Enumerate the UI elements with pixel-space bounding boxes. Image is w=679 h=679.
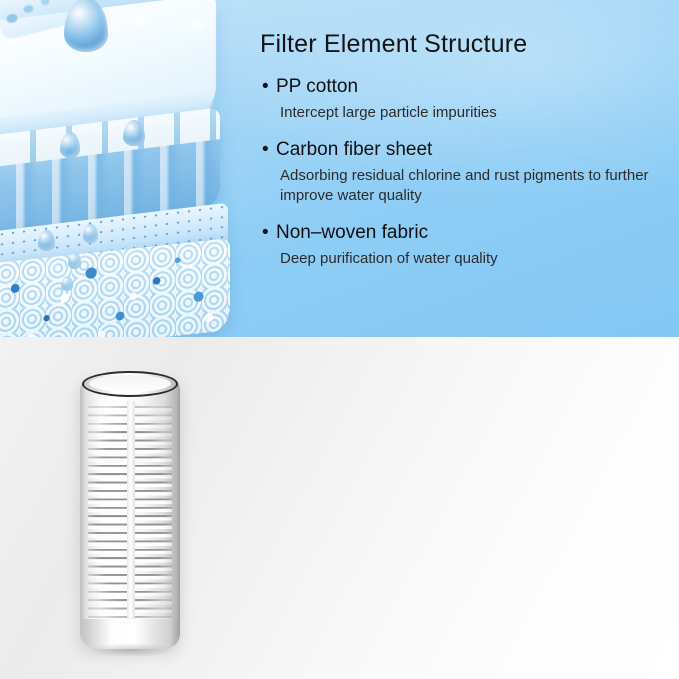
- bullet-description: Intercept large particle impurities: [260, 103, 670, 123]
- filter-structure-text: Filter Element Structure • PP cotton Int…: [260, 30, 670, 268]
- bullet-heading-label: PP cotton: [276, 76, 358, 97]
- bullet-heading: • PP cotton: [260, 76, 670, 99]
- water-droplet-icon: [83, 224, 98, 243]
- water-droplet-icon: [61, 276, 73, 291]
- cartridge-center-rib: [127, 401, 135, 629]
- bullet-heading-label: Carbon fiber sheet: [276, 139, 432, 160]
- infographic-page: Filter Element Structure • PP cotton Int…: [0, 0, 679, 679]
- bullet-dot-icon: •: [262, 139, 269, 162]
- water-droplet-icon: [38, 230, 55, 251]
- bullet-description: Deep purification of water quality: [260, 249, 670, 269]
- filter-structure-panel: Filter Element Structure • PP cotton Int…: [0, 0, 679, 337]
- bullet-item-non-woven-fabric: • Non–woven fabric Deep purification of …: [260, 222, 670, 268]
- filter-cartridge-image: [70, 367, 190, 657]
- filter-structure-title: Filter Element Structure: [260, 30, 670, 59]
- cartridge-rim-inner: [89, 375, 171, 392]
- bullet-heading: • Non–woven fabric: [260, 222, 670, 245]
- purification-amount-panel: ≈ Filter Element Purification Amount: [0, 337, 679, 679]
- water-droplet-icon: [123, 120, 145, 146]
- bullet-heading-label: Non–woven fabric: [276, 222, 428, 243]
- water-droplet-icon: [60, 132, 80, 158]
- water-droplet-icon: [68, 252, 81, 269]
- filter-layers-illustration: [0, 0, 252, 337]
- bullet-dot-icon: •: [262, 222, 269, 245]
- bullet-heading: • Carbon fiber sheet: [260, 139, 670, 162]
- cartridge-drop-shadow: [88, 643, 174, 657]
- bullet-dot-icon: •: [262, 76, 269, 99]
- water-droplet-icon: [64, 0, 108, 52]
- bullet-item-pp-cotton: • PP cotton Intercept large particle imp…: [260, 76, 670, 122]
- bullet-item-carbon-fiber-sheet: • Carbon fiber sheet Adsorbing residual …: [260, 139, 670, 205]
- bullet-description: Adsorbing residual chlorine and rust pig…: [260, 166, 670, 205]
